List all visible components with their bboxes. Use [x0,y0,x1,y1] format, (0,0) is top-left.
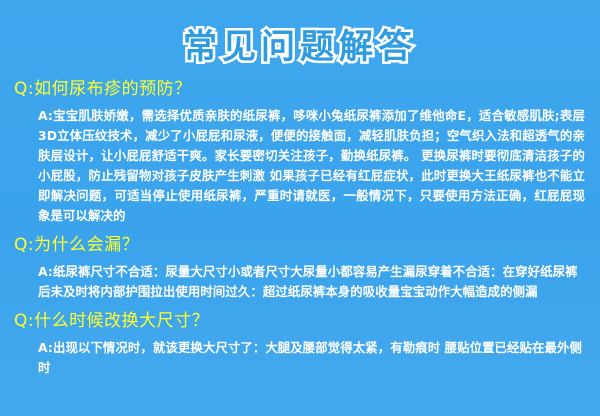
faq-question: Q:如何尿布疹的预防？ [14,76,591,102]
faq-item: Q:如何尿布疹的预防？ A:宝宝肌肤娇嫩，需选择优质亲肤的纸尿裤，哆咪小兔纸尿裤… [14,76,591,226]
faq-list: Q:如何尿布疹的预防？ A:宝宝肌肤娇嫩，需选择优质亲肤的纸尿裤，哆咪小兔纸尿裤… [0,62,600,378]
faq-answer: A:宝宝肌肤娇嫩，需选择优质亲肤的纸尿裤，哆咪小兔纸尿裤添加了维他命E，适合敏感… [14,106,591,226]
faq-question: Q:为什么会漏？ [14,232,591,258]
faq-question: Q:什么时候改换大尺寸？ [14,308,591,334]
page-title: 常见问题解答 [183,30,417,64]
faq-item: Q:什么时候改换大尺寸？ A:出现以下情况时，就该更换大尺寸了：大腿及腰部觉得太… [14,308,591,378]
faq-page: 常见问题解答 Q:如何尿布疹的预防？ A:宝宝肌肤娇嫩，需选择优质亲肤的纸尿裤，… [0,0,600,416]
page-title-container: 常见问题解答 [0,0,600,62]
faq-item: Q:为什么会漏？ A:纸尿裤尺寸不合适：尿量大尺寸小或者尺寸大尿量小都容易产生漏… [14,232,591,302]
faq-answer: A:纸尿裤尺寸不合适：尿量大尺寸小或者尺寸大尿量小都容易产生漏尿穿着不合适：在穿… [14,262,591,302]
faq-answer: A:出现以下情况时，就该更换大尺寸了：大腿及腰部觉得太紧，有勒痕时 腰贴位置已经… [14,338,591,378]
